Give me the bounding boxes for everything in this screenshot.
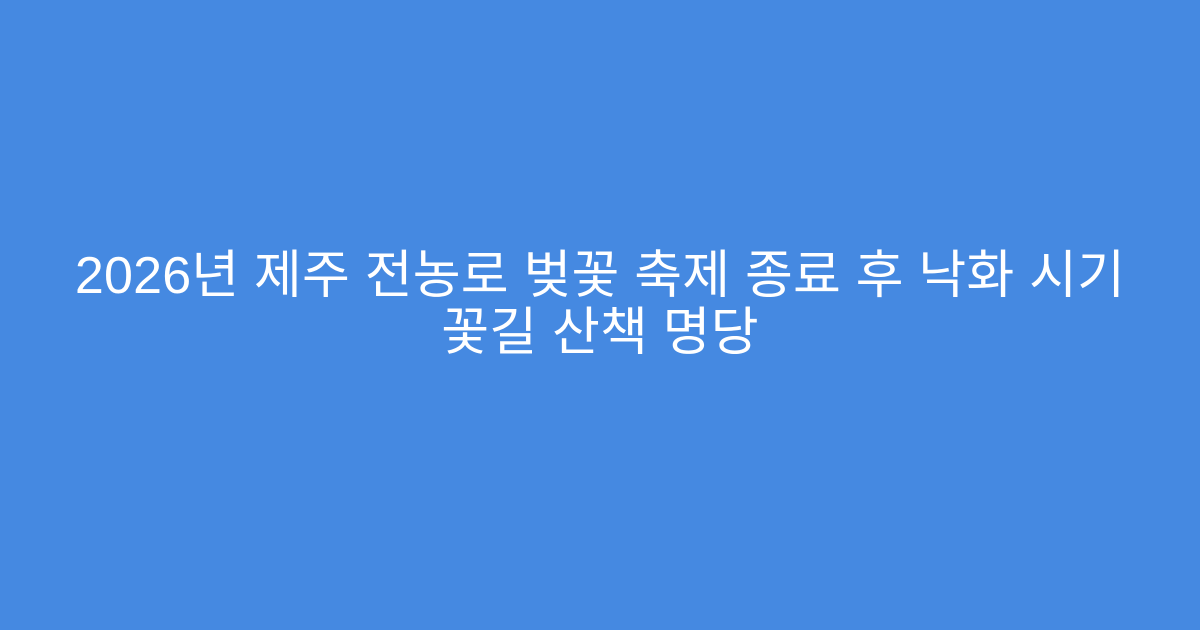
title-line-2: 꽃길 산책 명당 [70, 305, 1130, 362]
page-title: 2026년 제주 전농로 벚꽃 축제 종료 후 낙화 시기 꽃길 산책 명당 [70, 248, 1130, 362]
og-card-canvas: 2026년 제주 전농로 벚꽃 축제 종료 후 낙화 시기 꽃길 산책 명당 [0, 0, 1200, 630]
title-line-1: 2026년 제주 전농로 벚꽃 축제 종료 후 낙화 시기 [70, 248, 1130, 305]
